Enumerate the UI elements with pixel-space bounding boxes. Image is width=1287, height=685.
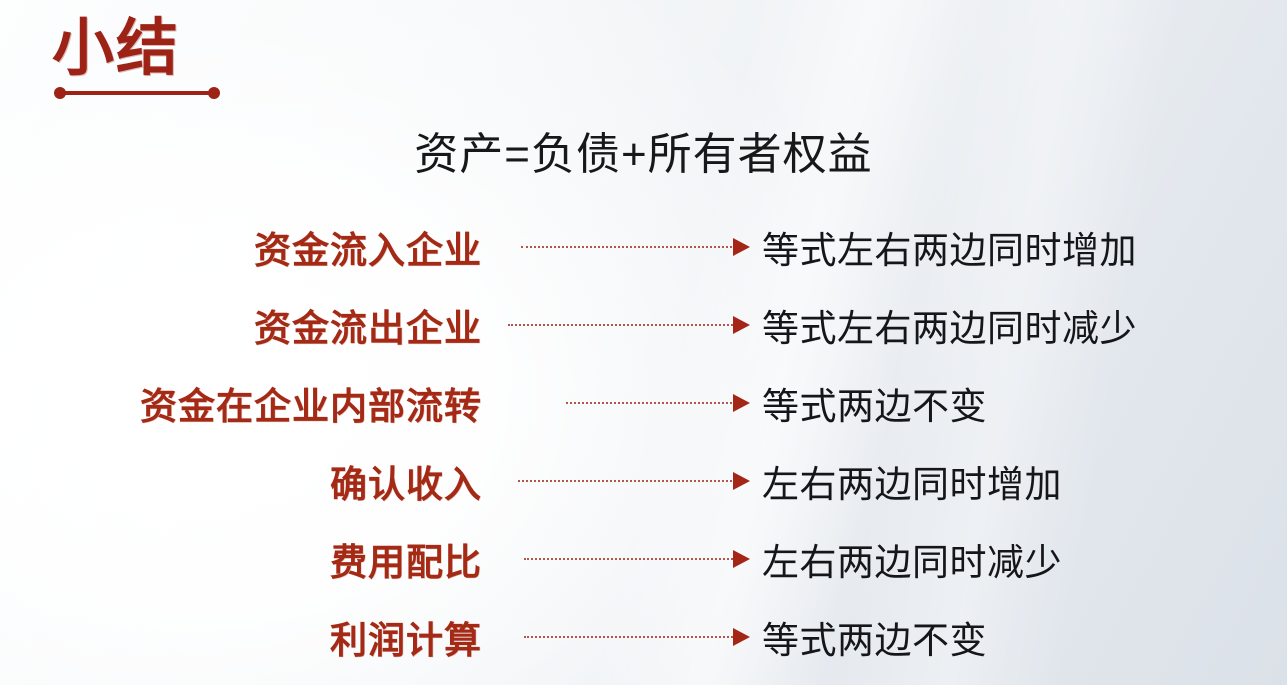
underline-line [59, 91, 215, 95]
arrow-head [733, 394, 750, 412]
mapping-row: 确认收入 左右两边同时增加 [0, 442, 1287, 520]
title-underline-decoration [54, 87, 220, 99]
arrow-head [733, 550, 750, 568]
accounting-equation: 资产=负债+所有者权益 [0, 118, 1287, 182]
arrow-dotted-line [508, 324, 736, 326]
dotted-arrow-right-icon [490, 549, 750, 569]
title-block: 小结 [52, 16, 220, 99]
mapping-row: 费用配比 左右两边同时减少 [0, 520, 1287, 598]
mapping-row: 资金流出企业 等式左右两边同时减少 [0, 286, 1287, 364]
cause-label: 利润计算 [0, 610, 490, 664]
slide-canvas: 小结 资产=负债+所有者权益 资金流入企业 等式左右两边同时增加 资金流出企业 [0, 0, 1287, 685]
arrow-dotted-line [518, 480, 736, 482]
dotted-arrow-right-icon [490, 627, 750, 647]
dotted-arrow-right-icon [490, 471, 750, 491]
arrow-head [733, 472, 750, 490]
slide-content: 小结 资产=负债+所有者权益 资金流入企业 等式左右两边同时增加 资金流出企业 [0, 0, 1287, 685]
effect-label: 等式左右两边同时增加 [750, 220, 1137, 274]
page-title: 小结 [52, 16, 220, 81]
arrow-head [733, 628, 750, 646]
cause-label: 资金在企业内部流转 [0, 376, 490, 430]
dotted-arrow-right-icon [490, 393, 750, 413]
effect-label: 左右两边同时减少 [750, 532, 1062, 586]
cause-label: 确认收入 [0, 454, 490, 508]
mapping-row: 资金流入企业 等式左右两边同时增加 [0, 208, 1287, 286]
cause-label: 资金流入企业 [0, 220, 490, 274]
cause-label: 费用配比 [0, 532, 490, 586]
dotted-arrow-right-icon [490, 315, 750, 335]
arrow-dotted-line [566, 402, 736, 404]
arrow-dotted-line [524, 636, 736, 638]
effect-label: 等式左右两边同时减少 [750, 298, 1137, 352]
mapping-row: 利润计算 等式两边不变 [0, 598, 1287, 676]
cause-label: 资金流出企业 [0, 298, 490, 352]
arrow-head [733, 316, 750, 334]
effect-label: 左右两边同时增加 [750, 454, 1062, 508]
arrow-dotted-line [521, 246, 736, 248]
mapping-rows-list: 资金流入企业 等式左右两边同时增加 资金流出企业 等式左右两边同时减少 资金在企… [0, 208, 1287, 676]
mapping-row: 资金在企业内部流转 等式两边不变 [0, 364, 1287, 442]
effect-label: 等式两边不变 [750, 610, 987, 664]
arrow-head [733, 238, 750, 256]
underline-dot-right-icon [208, 87, 220, 99]
dotted-arrow-right-icon [490, 237, 750, 257]
arrow-dotted-line [524, 558, 736, 560]
effect-label: 等式两边不变 [750, 376, 987, 430]
